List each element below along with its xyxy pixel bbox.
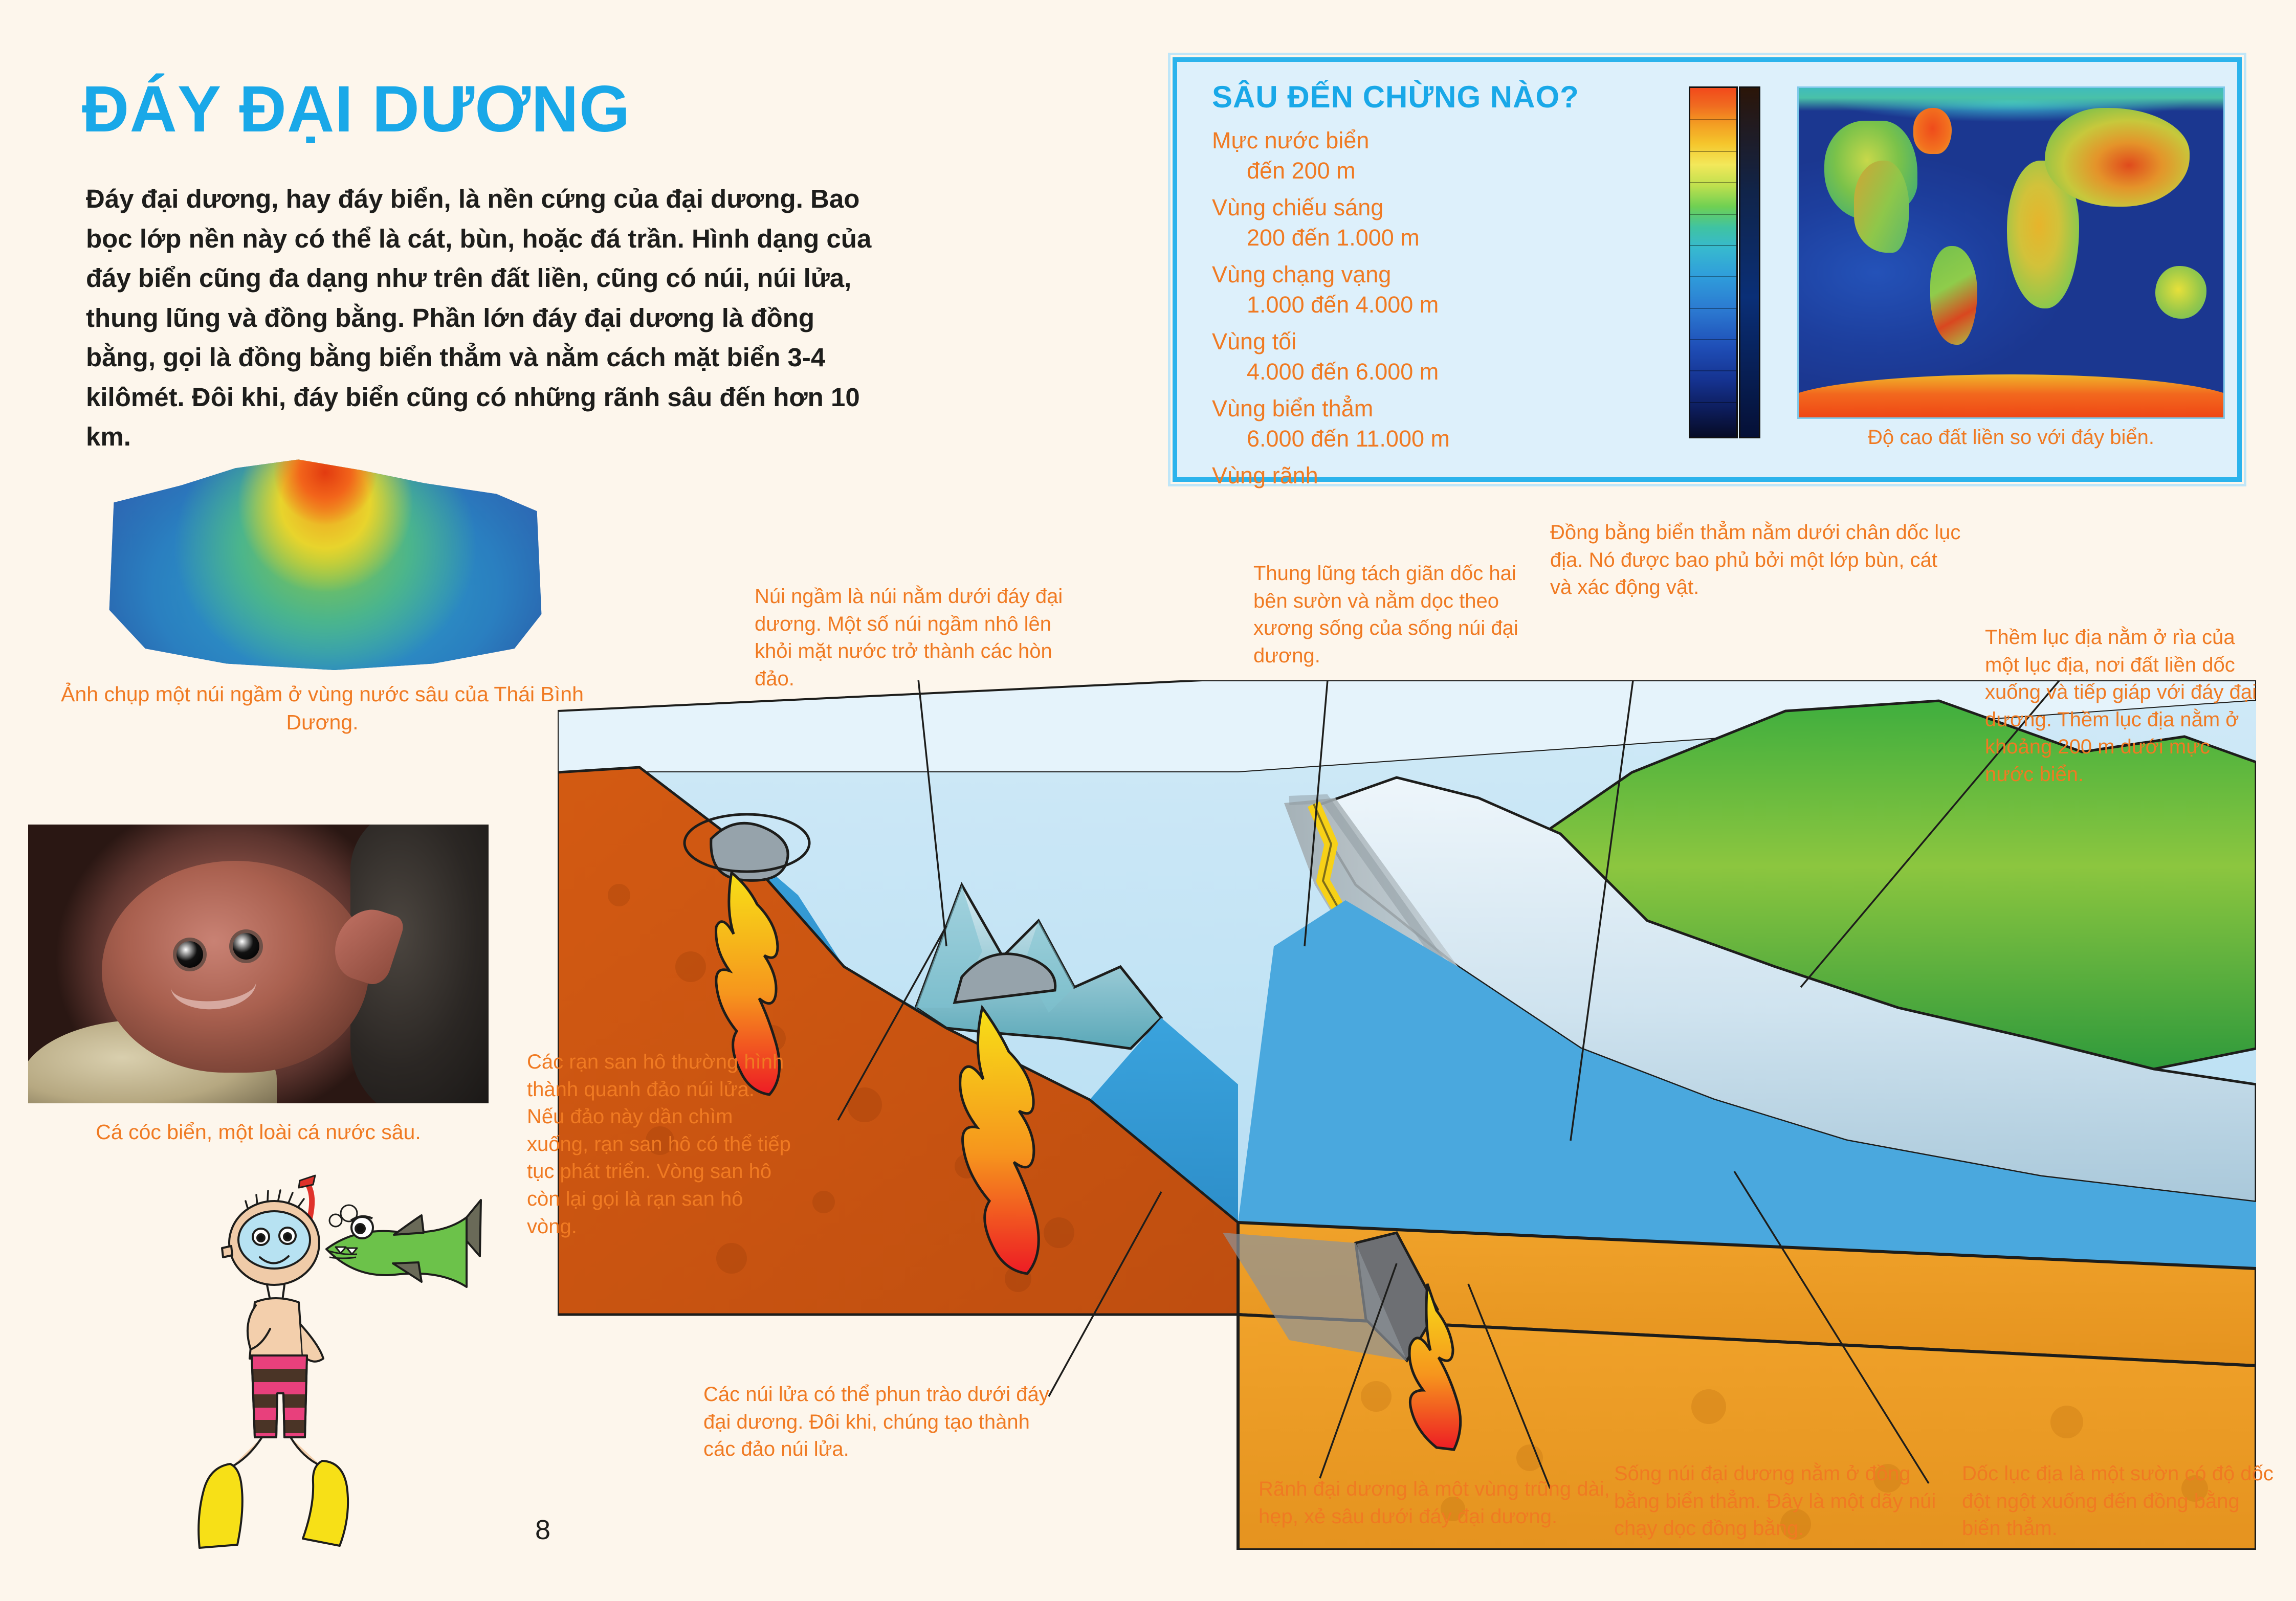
annotation-coral-reef: Các rạn san hô thường hình thành quanh đ…	[527, 1049, 793, 1240]
cartoon-snorkeler-illustration	[153, 1171, 512, 1570]
zone-range: 6.000 đến 11.000 m	[1247, 424, 1621, 454]
page-title: ĐÁY ĐẠI DƯƠNG	[82, 72, 630, 147]
depth-zone-list: Mực nước biển đến 200 m Vùng chiếu sáng …	[1212, 126, 1621, 491]
zone-range: 4.000 đến 6.000 m	[1247, 357, 1621, 387]
zone-name: Vùng chiếu sáng	[1212, 194, 1383, 220]
deep-sea-fish-photo	[28, 825, 489, 1103]
zone-name: Vùng chạng vạng	[1212, 261, 1391, 287]
depth-color-scale	[1689, 86, 1738, 438]
zone-name: Vùng rãnh	[1212, 462, 1318, 488]
zone-name: Vùng tối	[1212, 328, 1296, 354]
trench-color-scale	[1739, 86, 1760, 438]
annotation-mid-ocean-ridge: Sống núi đại dương nằm ở đồng bằng biển …	[1614, 1460, 1941, 1543]
fish-photo-caption: Cá cóc biển, một loài cá nước sâu.	[28, 1120, 489, 1144]
zone-range: 200 đến 1.000 m	[1247, 223, 1621, 253]
seamount-photo	[100, 455, 550, 670]
seamount-photo-caption: Ảnh chụp một núi ngầm ở vùng nước sâu củ…	[56, 680, 588, 737]
map-caption: Độ cao đất liền so với đáy biển.	[1797, 426, 2225, 449]
intro-paragraph: Đáy đại dương, hay đáy biển, là nền cứng…	[86, 179, 884, 457]
page-number: 8	[535, 1514, 550, 1546]
zone-name: Vùng biển thẳm	[1212, 395, 1373, 421]
depth-zone-item: Vùng chiếu sáng 200 đến 1.000 m	[1212, 193, 1621, 253]
depth-zone-item: Vùng biển thẳm 6.000 đến 11.000 m	[1212, 394, 1621, 454]
annotation-volcano: Các núi lửa có thể phun trào dưới đáy đạ…	[703, 1381, 1062, 1463]
annotation-abyssal-plain: Đồng bằng biển thẳm nằm dưới chân dốc lụ…	[1550, 519, 1964, 602]
annotation-continental-shelf: Thềm lục địa nằm ở rìa của một lục địa, …	[1985, 624, 2261, 789]
annotation-seamount: Núi ngầm là núi nằm dưới đáy đại dương. …	[755, 583, 1082, 693]
world-elevation-map	[1797, 86, 2225, 419]
depth-zone-item: Vùng tối 4.000 đến 6.000 m	[1212, 327, 1621, 387]
depth-zone-item: Vùng rãnh	[1212, 461, 1621, 491]
zone-range: đến 200 m	[1247, 156, 1621, 186]
depth-zone-item: Mực nước biển đến 200 m	[1212, 126, 1621, 186]
depth-zones-infobox: SÂU ĐẾN CHỪNG NÀO? Mực nước biển đến 200…	[1173, 57, 2242, 482]
annotation-trench: Rãnh đại dương là một vùng trũng dài, hẹ…	[1259, 1476, 1617, 1530]
depth-zone-item: Vùng chạng vạng 1.000 đến 4.000 m	[1212, 260, 1621, 320]
zone-name: Mực nước biển	[1212, 127, 1369, 153]
zone-range: 1.000 đến 4.000 m	[1247, 290, 1621, 320]
annotation-continental-slope: Dốc lục địa là một sườn có độ dốc đột ng…	[1962, 1460, 2279, 1543]
annotation-rift-valley: Thung lũng tách giãn dốc hai bên sườn và…	[1253, 560, 1530, 670]
ocean-floor-page: ĐÁY ĐẠI DƯƠNG Đáy đại dương, hay đáy biể…	[0, 0, 2296, 1601]
